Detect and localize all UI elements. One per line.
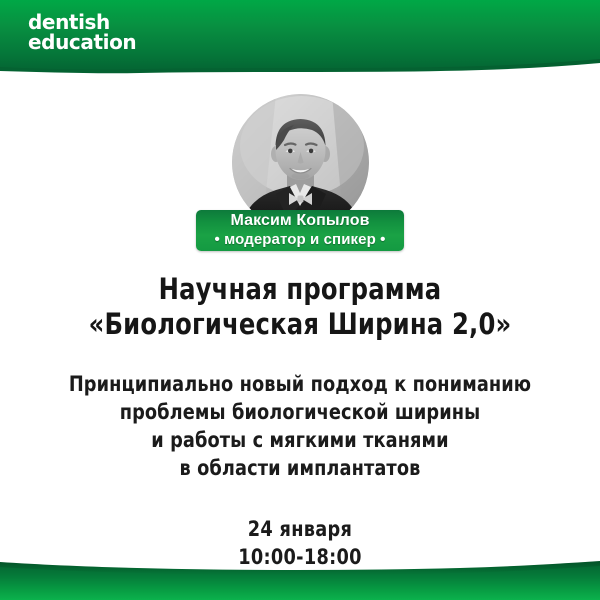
poster-content: Научная программа «Биологическая Ширина … [0, 272, 600, 571]
speaker-name: Максим Копылов [230, 212, 369, 231]
brand-logo[interactable]: dentish education [28, 13, 136, 52]
subtitle-line-2: проблемы биологической ширины [18, 399, 582, 427]
brand-logo-line-2: education [28, 33, 136, 53]
title-line-1: Научная программа [21, 272, 579, 307]
subtitle-line-1: Принципиально новый подход к пониманию [18, 371, 582, 399]
subtitle-line-3: и работы с мягкими тканями [18, 427, 582, 455]
event-time: 10:00-18:00 [18, 544, 582, 571]
speaker-name-badge: Максим Копылов • модератор и спикер • [196, 210, 404, 251]
event-date: 24 января [18, 516, 582, 543]
event-datetime: 24 января 10:00-18:00 [18, 516, 582, 571]
title-line-2: «Биологическая Ширина 2,0» [21, 307, 579, 342]
poster-subtitle: Принципиально новый подход к пониманию п… [18, 371, 582, 483]
event-poster: dentish education [0, 0, 600, 600]
page-title: Научная программа «Биологическая Ширина … [21, 272, 579, 343]
subtitle-line-4: в области имплантатов [18, 455, 582, 483]
speaker-role: • модератор и спикер • [215, 231, 386, 249]
